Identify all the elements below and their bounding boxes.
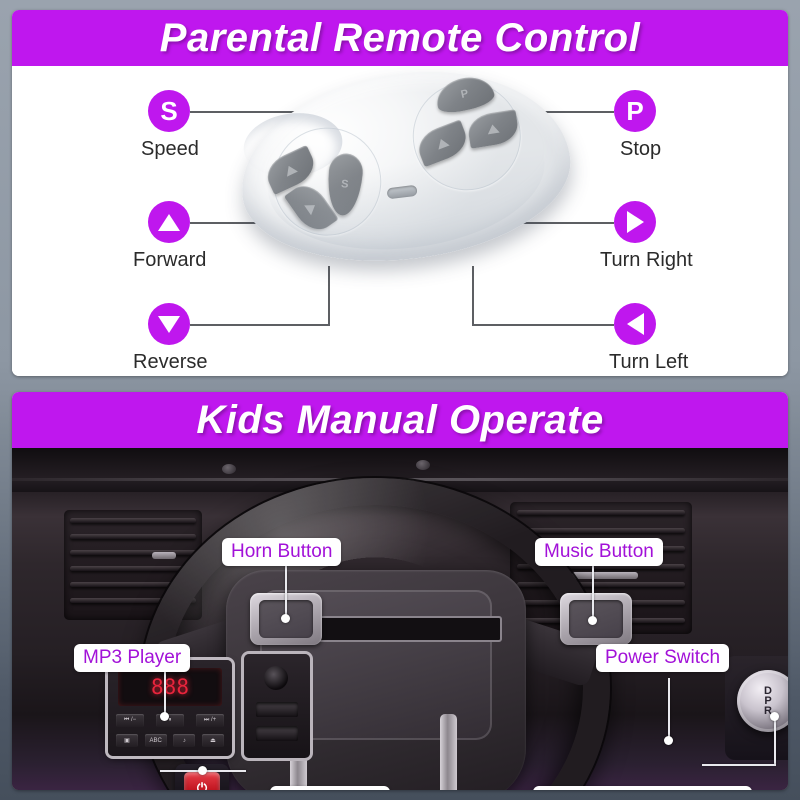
leader-reverse-h bbox=[190, 324, 330, 326]
leader-dot-horn bbox=[281, 614, 290, 623]
leader-dot-music bbox=[588, 616, 597, 625]
panel2-banner: Kids Manual Operate bbox=[12, 392, 788, 448]
remote-controller-device[interactable]: S P bbox=[230, 55, 580, 279]
trim-screw-left bbox=[222, 464, 236, 474]
leader-dot-mp3 bbox=[160, 712, 169, 721]
mp3-usb-button[interactable]: ⏏ bbox=[202, 734, 224, 747]
mp3-player-unit[interactable]: 888 ⏮ /− ⏸ ⏭ /+ ▣ ABC ♪ ⏏ bbox=[108, 660, 232, 756]
remote-stop-button[interactable]: P bbox=[433, 72, 497, 116]
callout-label-turn-right: Turn Right bbox=[600, 249, 693, 272]
callout-label-reverse: Reverse bbox=[133, 351, 207, 374]
usb-port-lower bbox=[256, 726, 298, 741]
badge-turn-left bbox=[614, 303, 656, 345]
label-power-switch[interactable]: Power Switch bbox=[596, 644, 729, 672]
mp3-mode-button[interactable]: ▣ bbox=[116, 734, 138, 747]
dashboard-photo: 888 ⏮ /− ⏸ ⏭ /+ ▣ ABC ♪ ⏏ bbox=[12, 448, 788, 790]
mp3-music-button[interactable]: ♪ bbox=[173, 734, 195, 747]
leader-dot-fwd-rev bbox=[770, 712, 779, 721]
badge-reverse bbox=[148, 303, 190, 345]
mp3-display-value: 888 bbox=[151, 677, 189, 698]
leader-dot-power bbox=[664, 736, 673, 745]
label-mp3-player[interactable]: MP3 Player bbox=[74, 644, 190, 672]
remote-turn-left-button[interactable] bbox=[413, 119, 471, 167]
chrome-trim-right bbox=[440, 714, 457, 790]
mp3-button-row-1: ⏮ /− ⏸ ⏭ /+ bbox=[116, 714, 224, 727]
callout-label-stop: Stop bbox=[620, 138, 661, 161]
leader-dot-light bbox=[198, 766, 207, 775]
leader-horn bbox=[285, 564, 287, 618]
leader-mp3 bbox=[164, 670, 166, 716]
panel1-stage: S P S Speed Forward bbox=[12, 66, 788, 376]
badge-forward bbox=[148, 201, 190, 243]
right-button-cluster: P bbox=[407, 76, 527, 196]
triangle-right-icon bbox=[627, 211, 644, 233]
aux-usb-port-panel[interactable] bbox=[244, 654, 310, 758]
mp3-prev-button[interactable]: ⏮ /− bbox=[116, 714, 144, 727]
triangle-down-icon bbox=[158, 316, 180, 333]
badge-stop: P bbox=[614, 90, 656, 132]
leader-music bbox=[592, 564, 594, 620]
letter-p-icon: P bbox=[626, 98, 643, 124]
triangle-left-icon bbox=[627, 313, 644, 335]
infographic-page: Parental Remote Control S bbox=[0, 0, 800, 800]
panel-kids-manual-operate: Kids Manual Operate bbox=[12, 392, 788, 790]
hub-emblem-slot bbox=[318, 616, 502, 642]
remote-body: S P bbox=[230, 55, 580, 279]
mp3-button-row-2: ▣ ABC ♪ ⏏ bbox=[116, 734, 224, 747]
panel-parental-remote-control: Parental Remote Control S bbox=[12, 10, 788, 376]
callout-label-forward: Forward bbox=[133, 249, 206, 272]
badge-turn-right bbox=[614, 201, 656, 243]
badge-speed: S bbox=[148, 90, 190, 132]
leader-reverse-v bbox=[328, 266, 330, 326]
label-forward-reverse-switch[interactable]: Forward Revese Switch bbox=[533, 786, 752, 790]
panel2-title: Kids Manual Operate bbox=[196, 398, 603, 443]
remote-status-indicator bbox=[387, 185, 418, 200]
mp3-abc-button[interactable]: ABC bbox=[145, 734, 167, 747]
leader-left-h bbox=[472, 324, 614, 326]
remote-turn-right-button[interactable] bbox=[466, 109, 520, 148]
leader-left-v bbox=[472, 266, 474, 324]
callout-label-turn-left: Turn Left bbox=[609, 351, 688, 374]
leader-power bbox=[668, 678, 670, 740]
callout-label-speed: Speed bbox=[141, 138, 199, 161]
triangle-up-icon bbox=[158, 214, 180, 231]
label-horn-button[interactable]: Horn Button bbox=[222, 538, 341, 566]
usb-port-upper bbox=[256, 702, 298, 717]
panel1-title: Parental Remote Control bbox=[160, 16, 640, 61]
mp3-display: 888 bbox=[118, 668, 222, 706]
mp3-next-button[interactable]: ⏭ /+ bbox=[196, 714, 224, 727]
label-light-switch[interactable]: Light Switch bbox=[270, 786, 390, 790]
leader-fwd-rev-h bbox=[702, 764, 776, 766]
aux-jack-icon bbox=[264, 666, 288, 690]
panel1-banner: Parental Remote Control bbox=[12, 10, 788, 66]
label-music-button[interactable]: Music Button bbox=[535, 538, 663, 566]
leader-fwd-rev-v bbox=[774, 716, 776, 764]
letter-s-icon: S bbox=[160, 98, 177, 124]
trim-screw-right bbox=[416, 460, 430, 470]
remote-reverse-button[interactable] bbox=[284, 178, 339, 237]
remote-speed-button[interactable]: S bbox=[325, 152, 364, 217]
